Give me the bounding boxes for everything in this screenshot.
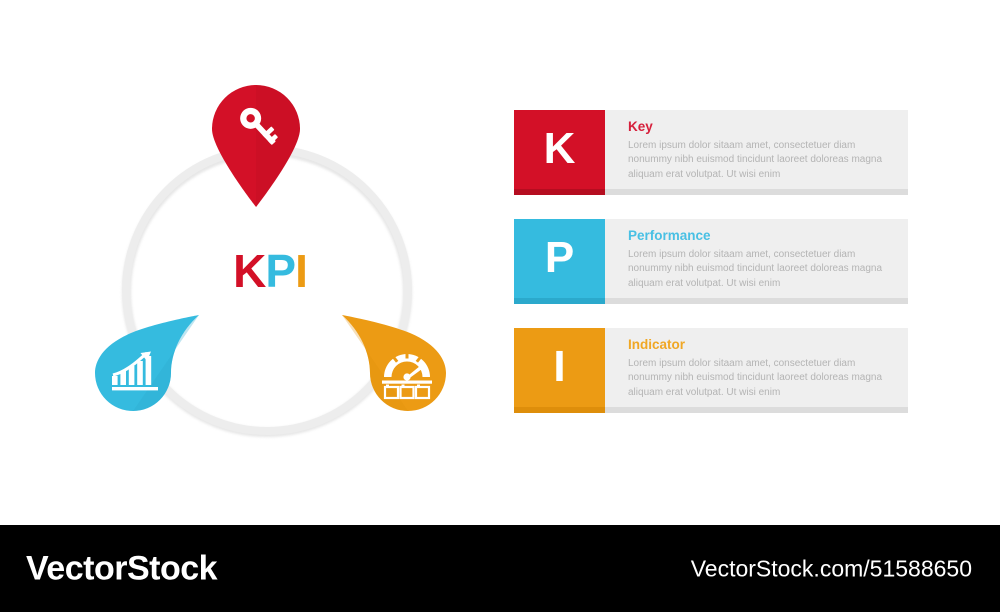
kpi-letter-k: K	[233, 245, 265, 297]
marker-indicator[interactable]	[340, 313, 446, 411]
infographic-canvas: KPI	[0, 0, 1000, 525]
kpi-letter-i: I	[295, 245, 307, 297]
row-badge-shadow	[514, 298, 605, 304]
kpi-center-label: KPI	[95, 248, 445, 294]
pin-shade-shape	[256, 85, 300, 207]
row-description: Lorem ipsum dolor sitaam amet, consectet…	[628, 357, 896, 400]
row-badge: K	[514, 110, 605, 189]
row-title: Indicator	[628, 337, 896, 353]
marker-key[interactable]	[212, 85, 300, 207]
marker-performance[interactable]	[95, 313, 201, 411]
row-description: Lorem ipsum dolor sitaam amet, consectet…	[628, 248, 896, 291]
row-description: Lorem ipsum dolor sitaam amet, consectet…	[628, 139, 896, 182]
list-item[interactable]: P Performance Lorem ipsum dolor sitaam a…	[514, 219, 910, 304]
row-badge-shadow	[514, 189, 605, 195]
row-badge-shadow	[514, 407, 605, 413]
row-letter: I	[553, 345, 565, 389]
list-item[interactable]: K Key Lorem ipsum dolor sitaam amet, con…	[514, 110, 910, 195]
row-title: Key	[628, 119, 896, 135]
kpi-rows-list: K Key Lorem ipsum dolor sitaam amet, con…	[514, 110, 910, 415]
kpi-letter-p: P	[265, 245, 295, 297]
kpi-circle-diagram: KPI	[95, 85, 445, 440]
list-item[interactable]: I Indicator Lorem ipsum dolor sitaam ame…	[514, 328, 910, 413]
vectorstock-url: VectorStock.com/51588650	[691, 555, 972, 582]
row-text-block: Performance Lorem ipsum dolor sitaam ame…	[628, 228, 896, 291]
watermark-footer: VectorStock VectorStock.com/51588650	[0, 525, 1000, 612]
row-letter: P	[545, 236, 574, 280]
row-text-block: Key Lorem ipsum dolor sitaam amet, conse…	[628, 119, 896, 182]
vectorstock-logo: VectorStock	[26, 549, 217, 588]
row-badge: P	[514, 219, 605, 298]
row-letter: K	[544, 127, 576, 171]
row-badge: I	[514, 328, 605, 407]
row-title: Performance	[628, 228, 896, 244]
row-text-block: Indicator Lorem ipsum dolor sitaam amet,…	[628, 337, 896, 400]
